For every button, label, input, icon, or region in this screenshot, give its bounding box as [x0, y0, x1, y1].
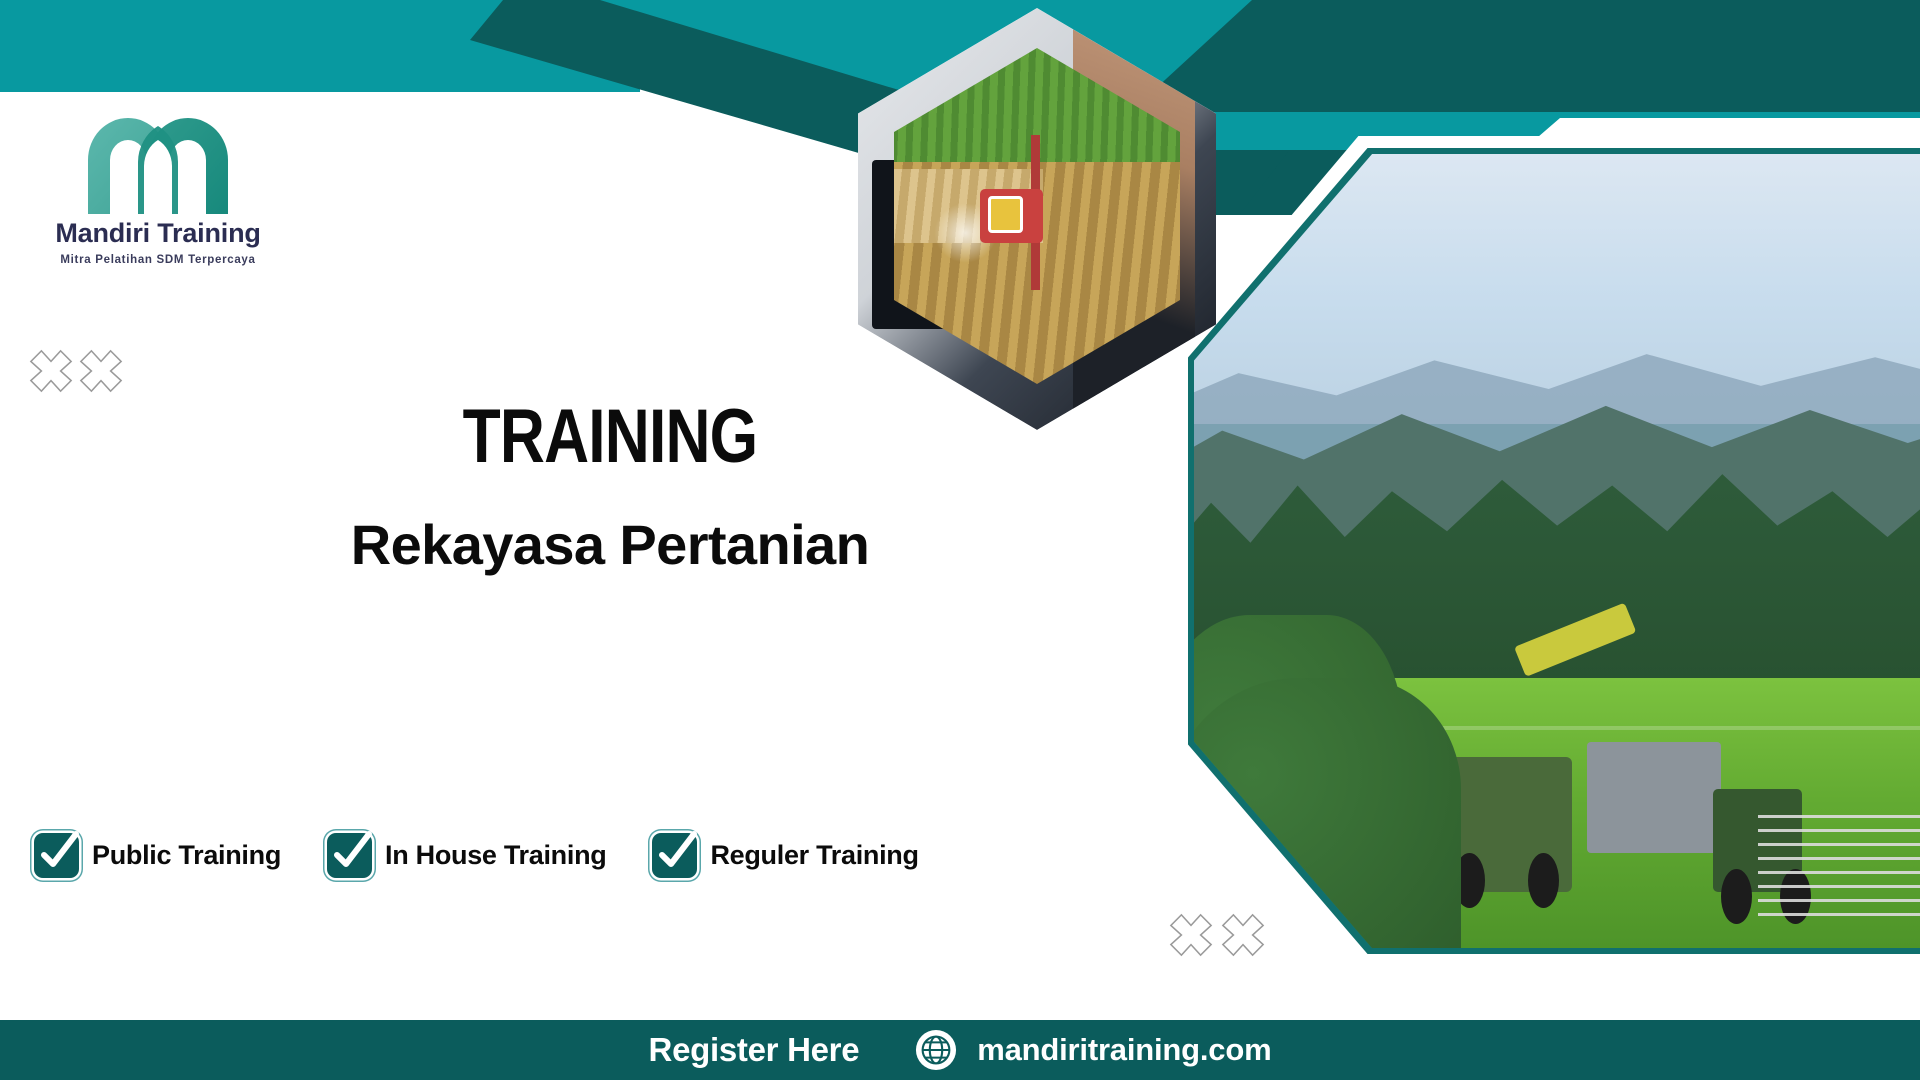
website-link[interactable]: mandiritraining.com [915, 1029, 1271, 1071]
website-url: mandiritraining.com [977, 1032, 1271, 1068]
x-cross-outline-icon [28, 348, 74, 394]
training-type-list: Public Training In House Training Regule… [34, 833, 919, 878]
poster-canvas: Mandiri Training Mitra Pelatihan SDM Ter… [0, 0, 1920, 1080]
brand-logo[interactable]: Mandiri Training Mitra Pelatihan SDM Ter… [38, 110, 278, 266]
feature-item-public-training[interactable]: Public Training [34, 833, 281, 878]
globe-icon [915, 1029, 957, 1071]
x-cross-outline-icon [78, 348, 124, 394]
footer-bar: Register Here mandiritraining.com [0, 1020, 1920, 1080]
headline-block: TRAINING Rekayasa Pertanian [230, 400, 990, 575]
feature-label: In House Training [385, 840, 606, 871]
headline-kicker: TRAINING [298, 400, 921, 474]
feature-label: Reguler Training [710, 840, 918, 871]
checkbox-checked-icon [652, 833, 697, 878]
headline-subject: Rekayasa Pertanian [230, 516, 990, 575]
brand-name: Mandiri Training [38, 218, 278, 249]
checkbox-checked-icon [34, 833, 79, 878]
x-cross-outline-icon [1168, 912, 1214, 958]
feature-item-in-house-training[interactable]: In House Training [327, 833, 606, 878]
brand-tagline: Mitra Pelatihan SDM Terpercaya [38, 254, 278, 266]
feature-label: Public Training [92, 840, 281, 871]
feature-item-reguler-training[interactable]: Reguler Training [652, 833, 918, 878]
banner-band-dark-right-wedge [1130, 0, 1920, 112]
x-cross-outline-icon [1220, 912, 1266, 958]
mandiri-m-monogram-icon [82, 110, 234, 214]
checkbox-checked-icon [327, 833, 372, 878]
photo-forage-harvester-meadow [1194, 154, 1920, 948]
register-cta-label[interactable]: Register Here [649, 1031, 860, 1069]
